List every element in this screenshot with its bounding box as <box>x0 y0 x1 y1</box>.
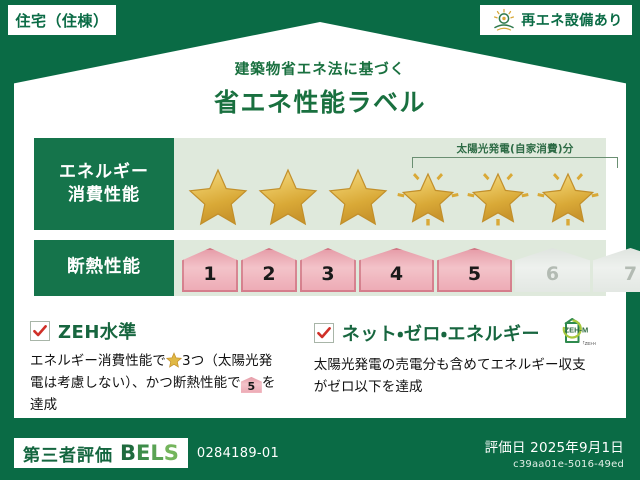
title-subtitle: 建築物省エネ法に基づく <box>0 58 640 79</box>
grade-value: 6 <box>546 263 559 285</box>
grade-value: 1 <box>203 263 216 285</box>
grade-value: 4 <box>390 263 403 285</box>
svg-text:「ZEH-M」: 「ZEH-M」 <box>580 341 596 346</box>
third-party-label: 第三者評価 <box>23 441 113 466</box>
energy-label-line1: エネルギー <box>59 161 149 184</box>
evaluation-uuid: c39aa01e-5016-49ed <box>485 459 624 470</box>
grade-value: 2 <box>262 263 275 285</box>
grade-value: 7 <box>624 263 637 285</box>
star-sparkle-icon <box>394 162 462 226</box>
label-title-block: 建築物省エネ法に基づく 省エネ性能ラベル <box>0 58 640 119</box>
bels-certificate-number: 0284189-01 <box>197 446 279 461</box>
grade-badge-5: 5 <box>437 248 512 292</box>
renewable-equipment-badge: 再エネ設備あり <box>480 5 632 35</box>
grade-value: 5 <box>468 263 481 285</box>
star-icon <box>184 162 252 226</box>
bels-letter-e: E <box>136 441 150 465</box>
star-sparkle-icon <box>534 162 602 226</box>
evaluation-footer-right: 評価日 2025年9月1日 c39aa01e-5016-49ed <box>485 436 624 470</box>
zeh-criterion-title: ZEH水準 <box>58 318 137 344</box>
zeh-body-part1: エネルギー消費性能で <box>30 353 166 369</box>
energy-performance-row: エネルギー 消費性能 太陽光発電(自家消費)分 <box>34 138 606 230</box>
grade-badge-6: 6 <box>515 248 590 292</box>
insulation-grade-strip: 1 2 3 4 5 6 7 <box>182 246 602 292</box>
svg-text:ZEH-M: ZEH-M <box>565 326 589 335</box>
inline-star-icon <box>166 352 182 368</box>
zeh-criterion-header: ZEH水準 <box>30 318 286 344</box>
dwelling-type-label: 住宅（住棟） <box>15 10 108 31</box>
criteria-section: ZEH水準 エネルギー消費性能で3つ（太陽光発電は考慮しない）、かつ断熱性能で5… <box>30 318 610 417</box>
star-icon <box>254 162 322 226</box>
energy-stars-panel: 太陽光発電(自家消費)分 <box>174 138 606 230</box>
insulation-performance-label: 断熱性能 <box>34 240 174 296</box>
star-sparkle-icon <box>464 162 532 226</box>
bels-wordmark: BELS <box>120 441 179 465</box>
zeh-m-logo-icon: ZEH-M 「ZEH-M」 <box>542 318 596 348</box>
star-icon <box>324 162 392 226</box>
sun-renewable-icon <box>492 8 516 32</box>
energy-label-line2: 消費性能 <box>68 184 140 207</box>
inline-grade-badge: 5 <box>241 377 262 393</box>
title-main: 省エネ性能ラベル <box>0 83 640 119</box>
zeh-checkbox <box>30 321 50 341</box>
grade-badge-4: 4 <box>359 248 434 292</box>
grade-badge-7: 7 <box>593 248 640 292</box>
grade-badge-3: 3 <box>300 248 356 292</box>
renewable-equipment-label: 再エネ設備あり <box>521 10 623 30</box>
net-zero-checkbox <box>314 323 334 343</box>
bels-badge: 第三者評価 BELS <box>14 438 188 468</box>
star-rating-strip <box>174 162 606 226</box>
bels-letter-b: B <box>120 441 136 465</box>
grade-value: 3 <box>321 263 334 285</box>
energy-performance-label: エネルギー 消費性能 <box>34 138 174 230</box>
net-zero-criterion-title: ネット・ゼロ・エネルギー <box>342 320 540 346</box>
bels-letter-s: S <box>164 441 179 465</box>
net-zero-criterion-body: 太陽光発電の売電分も含めてエネルギー収支がゼロ以下を達成 <box>314 355 596 399</box>
evaluation-date: 評価日 2025年9月1日 <box>485 436 624 456</box>
solar-bracket-label: 太陽光発電(自家消費)分 <box>386 141 640 156</box>
zeh-criterion: ZEH水準 エネルギー消費性能で3つ（太陽光発電は考慮しない）、かつ断熱性能で5… <box>30 318 300 417</box>
grade-badge-1: 1 <box>182 248 238 292</box>
net-zero-criterion: ネット・ゼロ・エネルギー ZEH-M 「ZEH-M」 太陽光発電の売電分も含めて… <box>300 318 610 417</box>
insulation-performance-row: 断熱性能 1 2 3 4 5 6 <box>34 240 606 296</box>
grade-badge-2: 2 <box>241 248 297 292</box>
energy-performance-label: 住宅（住棟） 再エネ設備あり 建築物省エネ法に基づく 省エネ性能ラベル <box>0 0 640 480</box>
bels-footer-left: 第三者評価 BELS 0284189-01 <box>14 438 279 468</box>
insulation-grades-panel: 1 2 3 4 5 6 7 <box>174 240 606 296</box>
net-zero-criterion-header: ネット・ゼロ・エネルギー ZEH-M 「ZEH-M」 <box>314 318 596 348</box>
zeh-criterion-body: エネルギー消費性能で3つ（太陽光発電は考慮しない）、かつ断熱性能で5を達成 <box>30 351 286 417</box>
dwelling-type-badge: 住宅（住棟） <box>8 5 116 35</box>
insulation-label-text: 断熱性能 <box>67 256 141 280</box>
bels-letter-l: L <box>150 441 163 465</box>
